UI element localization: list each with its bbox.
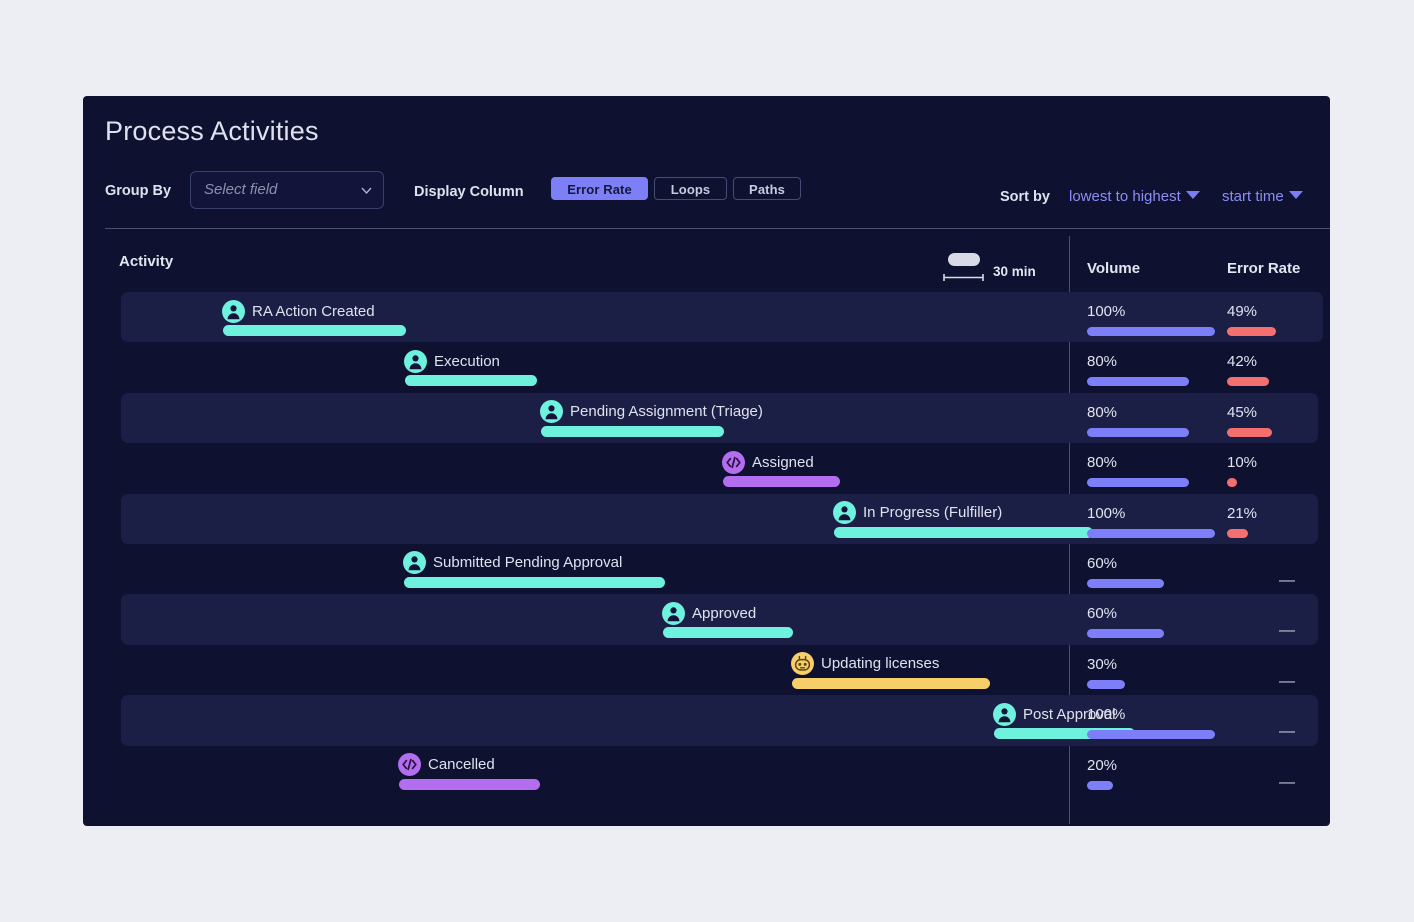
volume-bar: [1087, 529, 1215, 538]
error-rate-value: 10%: [1227, 454, 1257, 471]
person-icon: [993, 703, 1016, 726]
table-row[interactable]: Cancelled20%—: [83, 746, 1330, 796]
caret-down-icon: [1186, 191, 1200, 199]
volume-bar: [1087, 730, 1215, 739]
volume-value: 80%: [1087, 353, 1117, 370]
timeline-bar[interactable]: [792, 678, 990, 689]
table-row[interactable]: Pending Assignment (Triage)80%45%: [83, 393, 1330, 443]
error-rate-empty: —: [1279, 774, 1295, 792]
timeline-bar[interactable]: [541, 426, 724, 437]
error-rate-bar: [1227, 377, 1269, 386]
activity-label-group: Pending Assignment (Triage): [540, 400, 763, 424]
error-rate-empty: —: [1279, 622, 1295, 640]
timeline-bar[interactable]: [663, 627, 793, 638]
error-rate-bar: [1227, 478, 1237, 487]
process-activities-panel: Process Activities Group By Select field…: [83, 96, 1330, 826]
activity-label-group: Submitted Pending Approval: [403, 551, 622, 575]
table-row[interactable]: Execution80%42%: [83, 342, 1330, 392]
person-icon: [403, 551, 426, 574]
sort-by-label: Sort by: [1000, 189, 1050, 205]
table-row[interactable]: Post Approval100%—: [83, 695, 1330, 745]
table-row[interactable]: In Progress (Fulfiller)100%21%: [83, 494, 1330, 544]
volume-bar: [1087, 579, 1164, 588]
error-rate-bar: [1227, 428, 1272, 437]
code-icon: [398, 753, 421, 776]
error-rate-value: 45%: [1227, 404, 1257, 421]
volume-bar: [1087, 478, 1189, 487]
app-root: Process Activities Group By Select field…: [0, 0, 1414, 922]
error-rate-bar: [1227, 327, 1276, 336]
column-header-error-rate: Error Rate: [1227, 260, 1300, 277]
volume-bar: [1087, 377, 1189, 386]
volume-bar: [1087, 327, 1215, 336]
person-icon: [404, 350, 427, 373]
activity-label-group: Updating licenses: [791, 652, 939, 676]
group-by-select[interactable]: Select field: [190, 171, 384, 209]
volume-value: 100%: [1087, 706, 1125, 723]
display-column-option-paths[interactable]: Paths: [733, 177, 801, 200]
table-row[interactable]: Submitted Pending Approval60%—: [83, 544, 1330, 594]
volume-value: 80%: [1087, 454, 1117, 471]
activity-name: Updating licenses: [821, 655, 939, 672]
page-title: Process Activities: [105, 116, 319, 147]
person-icon: [833, 501, 856, 524]
error-rate-value: 49%: [1227, 303, 1257, 320]
volume-value: 100%: [1087, 505, 1125, 522]
activity-name: Approved: [692, 605, 756, 622]
scale-label: 30 min: [993, 264, 1036, 279]
activity-label-group: Cancelled: [398, 753, 495, 777]
volume-value: 60%: [1087, 555, 1117, 572]
duration-scale-icon: [943, 269, 985, 278]
sort-field-label: start time: [1222, 188, 1284, 205]
timeline-bar[interactable]: [723, 476, 840, 487]
timeline-bar[interactable]: [834, 527, 1093, 538]
activity-name: Assigned: [752, 454, 814, 471]
volume-bar: [1087, 680, 1125, 689]
code-icon: [722, 451, 745, 474]
chevron-down-icon: [361, 187, 372, 194]
column-header-volume: Volume: [1087, 260, 1140, 277]
display-column-option-error-rate[interactable]: Error Rate: [551, 177, 648, 200]
sort-direction-label: lowest to highest: [1069, 188, 1181, 205]
group-by-placeholder: Select field: [204, 181, 277, 198]
activity-label-group: RA Action Created: [222, 299, 375, 323]
toolbar: Group By Select field Display Column Err…: [83, 168, 1330, 226]
volume-value: 100%: [1087, 303, 1125, 320]
activity-label-group: Assigned: [722, 450, 814, 474]
error-rate-empty: —: [1279, 572, 1295, 590]
timeline-bar[interactable]: [399, 779, 540, 790]
volume-value: 80%: [1087, 404, 1117, 421]
table-row[interactable]: Updating licenses30%—: [83, 645, 1330, 695]
timeline-bar[interactable]: [223, 325, 406, 336]
error-rate-empty: —: [1279, 723, 1295, 741]
activity-label-group: In Progress (Fulfiller): [833, 501, 1002, 525]
robot-icon: [791, 652, 814, 675]
sort-direction-dropdown[interactable]: lowest to highest: [1069, 188, 1200, 205]
activity-label-group: Approved: [662, 601, 756, 625]
activity-rows: RA Action Created100%49%Execution80%42%P…: [83, 292, 1330, 796]
activity-name: Execution: [434, 353, 500, 370]
volume-bar: [1087, 781, 1113, 790]
error-rate-bar: [1227, 529, 1248, 538]
person-icon: [540, 400, 563, 423]
error-rate-empty: —: [1279, 673, 1295, 691]
person-icon: [222, 300, 245, 323]
volume-bar: [1087, 428, 1189, 437]
volume-bar: [1087, 629, 1164, 638]
error-rate-value: 42%: [1227, 353, 1257, 370]
sort-field-dropdown[interactable]: start time: [1222, 188, 1303, 205]
table-row[interactable]: RA Action Created100%49%: [83, 292, 1330, 342]
timeline-bar[interactable]: [404, 577, 665, 588]
toolbar-divider: [105, 228, 1330, 229]
activity-name: Pending Assignment (Triage): [570, 403, 763, 420]
table-row[interactable]: Assigned80%10%: [83, 443, 1330, 493]
display-column-option-loops[interactable]: Loops: [654, 177, 727, 200]
table-header: Activity 30 min Volume Error Rate: [83, 241, 1330, 291]
person-icon: [662, 602, 685, 625]
scale-pill-icon: [948, 253, 980, 266]
table-row[interactable]: Approved60%—: [83, 594, 1330, 644]
activity-label-group: Execution: [404, 349, 500, 373]
activity-name: In Progress (Fulfiller): [863, 504, 1002, 521]
group-by-label: Group By: [105, 183, 171, 199]
volume-value: 30%: [1087, 656, 1117, 673]
volume-value: 20%: [1087, 757, 1117, 774]
display-column-label: Display Column: [414, 184, 524, 200]
column-header-activity: Activity: [119, 253, 173, 270]
activity-name: RA Action Created: [252, 303, 375, 320]
volume-value: 60%: [1087, 605, 1117, 622]
activity-name: Cancelled: [428, 756, 495, 773]
timeline-bar[interactable]: [405, 375, 537, 386]
activity-name: Submitted Pending Approval: [433, 554, 622, 571]
caret-down-icon: [1289, 191, 1303, 199]
error-rate-value: 21%: [1227, 505, 1257, 522]
